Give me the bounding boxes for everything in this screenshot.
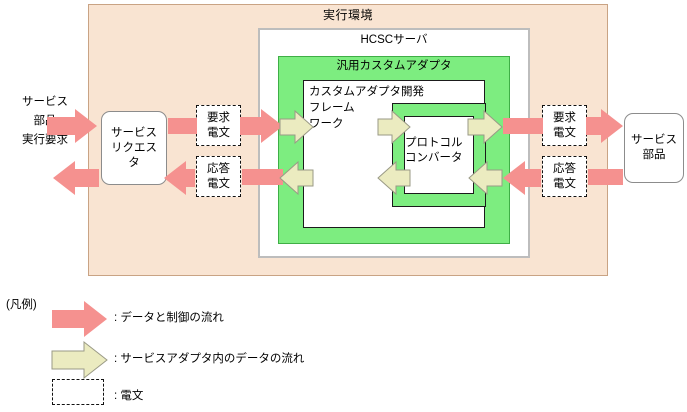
lead-label-line-3: 実行要求	[4, 131, 86, 150]
service-component-execution-request-label: サービス 部品 実行要求	[4, 93, 86, 150]
legend-pink-arrow-icon	[52, 301, 107, 337]
legend-item-data-control-flow: : データと制御の流れ	[114, 310, 224, 326]
service-requester-line-3: タ	[111, 156, 157, 171]
diagram-canvas: 実行環境 HCSCサーバ 汎用カスタムアダプタ カスタムアダプタ開発 フレーム …	[0, 0, 687, 412]
hcsc-server-title: HCSCサーバ	[258, 32, 530, 49]
generic-custom-adapter-title: 汎用カスタムアダプタ	[278, 58, 510, 75]
protocol-converter-label: プロトコル コンバータ	[404, 136, 476, 166]
execution-environment-title: 実行環境	[88, 6, 608, 24]
service-component-box: サービス 部品	[624, 113, 684, 183]
response-message-right-line-2: 電文	[553, 177, 576, 192]
protocol-converter-line-1: プロトコル	[405, 136, 476, 151]
request-message-box-left: 要求 電文	[196, 105, 241, 146]
legend-pale-arrow-icon	[52, 342, 107, 378]
response-message-right-line-1: 応答	[553, 162, 576, 177]
response-message-left-line-2: 電文	[207, 177, 230, 192]
legend-dashed-box-icon	[52, 379, 104, 405]
lead-label-line-2: 部品	[4, 112, 86, 131]
request-message-left-line-2: 電文	[207, 126, 230, 141]
service-component-line-2: 部品	[631, 148, 677, 163]
legend-item-adapter-internal-flow: : サービスアダプタ内のデータの流れ	[114, 351, 304, 367]
lead-label-line-1: サービス	[4, 93, 86, 112]
request-message-right-line-2: 電文	[553, 126, 576, 141]
service-requester-line-1: サービス	[111, 126, 157, 141]
response-message-box-right: 応答 電文	[542, 156, 587, 197]
framework-label-line-1: カスタムアダプタ開発	[309, 84, 485, 100]
legend-item-message: : 電文	[114, 388, 143, 404]
service-requester-box: サービス リクエス タ	[101, 111, 167, 185]
legend-heading: (凡例)	[6, 296, 37, 312]
request-message-box-right: 要求 電文	[542, 105, 587, 146]
service-requester-line-2: リクエス	[111, 141, 157, 156]
service-component-line-1: サービス	[631, 133, 677, 148]
response-message-box-left: 応答 電文	[196, 156, 241, 197]
request-message-left-line-1: 要求	[207, 111, 230, 126]
request-message-right-line-1: 要求	[553, 111, 576, 126]
response-message-left-line-1: 応答	[207, 162, 230, 177]
protocol-converter-line-2: コンバータ	[405, 151, 476, 166]
